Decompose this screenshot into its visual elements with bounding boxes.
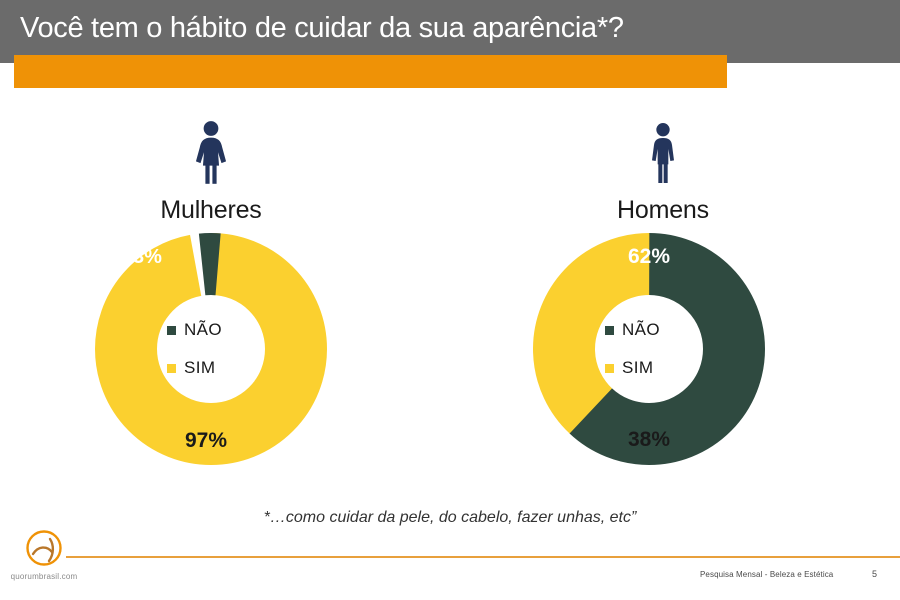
logo-text: quorumbrasil.com	[4, 572, 84, 581]
data-label-women-nao: 3%	[133, 246, 162, 269]
logo: quorumbrasil.com	[4, 529, 84, 581]
page-title: Você tem o hábito de cuidar da sua aparê…	[20, 12, 624, 45]
male-figure-icon	[643, 112, 683, 194]
footer-caption: Pesquisa Mensal - Beleza e Estética	[700, 570, 833, 579]
footnote: *…como cuidar da pele, do cabelo, fazer …	[0, 509, 900, 527]
panel-men: Homens	[513, 112, 813, 225]
data-label-men-sim: 38%	[533, 428, 765, 452]
panel-women: Mulheres	[61, 112, 361, 225]
footer-divider	[66, 556, 900, 558]
quorum-logo-icon	[19, 529, 69, 571]
female-figure-icon	[190, 112, 232, 194]
data-label-men-nao: 62%	[533, 245, 765, 269]
data-label-women-sim: 97%	[90, 429, 322, 453]
panel-women-label: Mulheres	[61, 196, 361, 225]
panel-men-label: Homens	[513, 196, 813, 225]
footer-page-number: 5	[872, 569, 877, 579]
accent-bar	[14, 55, 727, 88]
